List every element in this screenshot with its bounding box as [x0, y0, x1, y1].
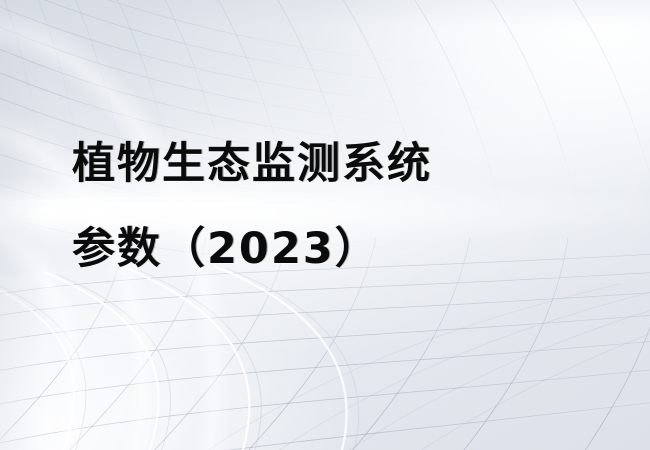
slide-title-line-1: 植物生态监测系统 [72, 122, 592, 207]
slide-title-line-2: 参数（2023） [72, 207, 592, 292]
slide-title: 植物生态监测系统 参数（2023） [72, 122, 592, 292]
title-slide: 植物生态监测系统 参数（2023） [0, 0, 650, 450]
